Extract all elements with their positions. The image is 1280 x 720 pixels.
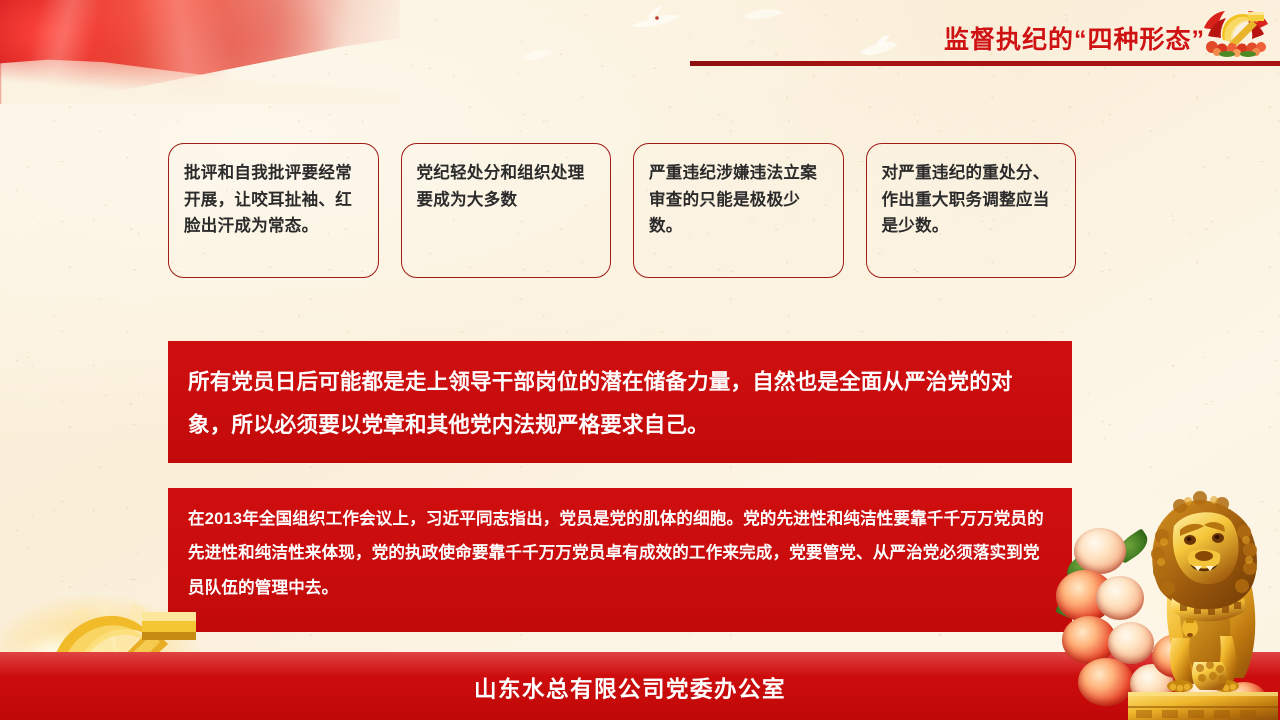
dove-icon xyxy=(740,0,786,24)
statement-banner-quote-text: 在2013年全国组织工作会议上，习近平同志指出，党员是党的肌体的细胞。党的先进性… xyxy=(188,502,1052,605)
dove-icon xyxy=(858,34,900,60)
dove-icon xyxy=(626,4,684,34)
statement-banner-primary-text: 所有党员日后可能都是走上领导干部岗位的潜在储备力量，自然也是全面从严治党的对象，… xyxy=(188,361,1050,446)
concept-card-1[interactable]: 批评和自我批评要经常开展，让咬耳扯袖、红脸出汗成为常态。 xyxy=(168,143,379,278)
concept-card-text: 党纪轻处分和组织处理要成为大多数 xyxy=(417,160,598,213)
concept-card-row: 批评和自我批评要经常开展，让咬耳扯袖、红脸出汗成为常态。 党纪轻处分和组织处理要… xyxy=(168,143,1076,278)
concept-card-text: 批评和自我批评要经常开展，让咬耳扯袖、红脸出汗成为常态。 xyxy=(184,160,365,240)
concept-card-text: 严重违纪涉嫌违法立案审查的只能是极极少数。 xyxy=(649,160,830,240)
concept-card-text: 对严重违纪的重处分、作出重大职务调整应当是少数。 xyxy=(882,160,1063,240)
peony-flower xyxy=(1078,658,1134,706)
concept-card-3[interactable]: 严重违纪涉嫌违法立案审查的只能是极极少数。 xyxy=(633,143,844,278)
page-title: 监督执纪的“四种形态” xyxy=(905,20,1205,56)
red-silk-flag-decoration xyxy=(0,0,400,104)
dove-icon xyxy=(520,44,554,64)
header-divider-rule xyxy=(690,61,1280,66)
guardian-lion-scene xyxy=(1056,466,1280,720)
slide-canvas: 监督执纪的“四种形态” xyxy=(0,0,1280,720)
statement-banner-quote: 在2013年全国组织工作会议上，习近平同志指出，党员是党的肌体的细胞。党的先进性… xyxy=(168,488,1072,632)
statement-banner-primary: 所有党员日后可能都是走上领导干部岗位的潜在储备力量，自然也是全面从严治党的对象，… xyxy=(168,341,1072,463)
concept-card-4[interactable]: 对严重违纪的重处分、作出重大职务调整应当是少数。 xyxy=(866,143,1077,278)
peony-flower xyxy=(1074,528,1126,574)
guardian-lion-statue xyxy=(1128,470,1278,720)
party-emblem-icon xyxy=(1198,2,1276,58)
concept-card-2[interactable]: 党纪轻处分和组织处理要成为大多数 xyxy=(401,143,612,278)
